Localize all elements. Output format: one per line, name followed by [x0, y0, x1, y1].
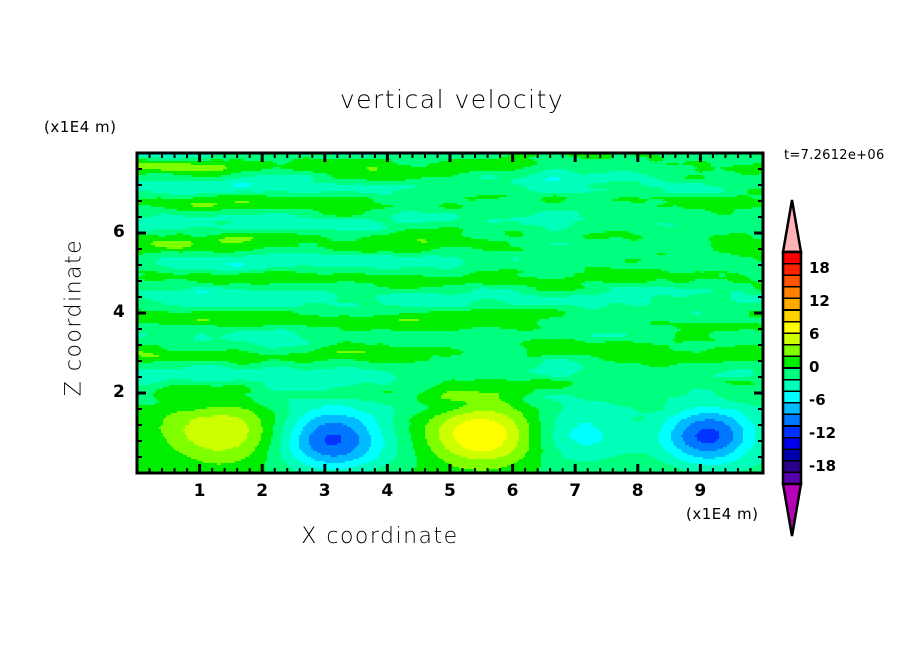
x-tick-label: 1	[194, 481, 206, 501]
colorbar[interactable]	[783, 200, 801, 536]
x-tick-label: 2	[256, 481, 268, 501]
x-tick-label: 4	[381, 481, 393, 501]
x-tick-label: 7	[569, 481, 581, 501]
colorbar-over-arrow	[783, 200, 801, 252]
x-tick-label: 5	[444, 481, 456, 501]
x-tick-label: 6	[507, 481, 519, 501]
figure-canvas: vertical velocity (x1E4 m) (x1E4 m) t=7.…	[0, 0, 904, 654]
y-tick-label: 6	[113, 222, 125, 242]
colorbar-under-arrow	[783, 484, 801, 536]
x-tick-label: 9	[694, 481, 706, 501]
x-tick-label: 3	[319, 481, 331, 501]
x-tick-label: 8	[632, 481, 644, 501]
colorbar-tick-label: -12	[809, 424, 836, 442]
y-tick-label: 2	[113, 382, 125, 402]
colorbar-tick-label: 18	[809, 259, 830, 277]
contour-plot	[0, 0, 904, 654]
y-tick-label: 4	[113, 302, 125, 322]
colorbar-tick-label: -18	[809, 457, 836, 475]
colorbar-tick-label: 6	[809, 325, 819, 343]
colorbar-tick-label: 0	[809, 358, 819, 376]
colorbar-tick-label: 12	[809, 292, 830, 310]
contour-field	[137, 153, 764, 474]
colorbar-tick-label: -6	[809, 391, 826, 409]
